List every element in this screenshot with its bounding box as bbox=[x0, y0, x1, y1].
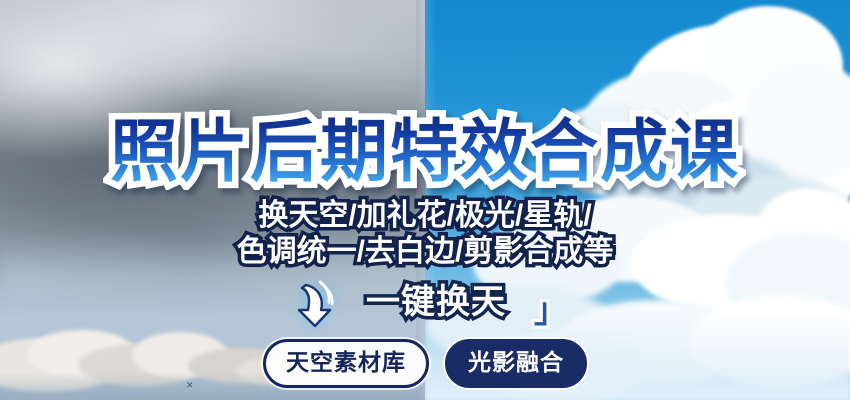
subtitle-line-1: 换天空/加礼花/极光/星轨/ 换天空/加礼花/极光/星轨/ bbox=[0, 198, 850, 234]
one-key-label-text: 一键换天 bbox=[344, 280, 528, 324]
subtitle-line-2: 色调统一/去白边/剪影合成等 色调统一/去白边/剪影合成等 bbox=[0, 234, 850, 270]
subtitle-line-2-text: 色调统一/去白边/剪影合成等 bbox=[0, 234, 850, 270]
badge-sky-asset-library[interactable]: 天空素材库 bbox=[263, 339, 429, 388]
curved-down-arrow-icon bbox=[290, 279, 338, 329]
corner-bracket-mark: 」 」 bbox=[534, 292, 560, 336]
course-promo-banner: ✕ 照片后期特效合成课 照片后期特效合成课 换天空/加礼花/极光/星轨/ bbox=[0, 0, 850, 400]
banner-title-text: 照片后期特效合成课 bbox=[0, 112, 850, 192]
banner-subtitle: 换天空/加礼花/极光/星轨/ 换天空/加礼花/极光/星轨/ 色调统一/去白边/剪… bbox=[0, 198, 850, 270]
banner-content: 照片后期特效合成课 照片后期特效合成课 换天空/加礼花/极光/星轨/ 换天空/加… bbox=[0, 0, 850, 400]
badge-light-shadow-blend[interactable]: 光影融合 bbox=[445, 339, 587, 388]
one-key-label: 一键换天 一键换天 bbox=[344, 280, 528, 324]
banner-title: 照片后期特效合成课 照片后期特效合成课 bbox=[0, 112, 850, 196]
one-key-sky-swap-highlight: 一键换天 一键换天 」 」 bbox=[0, 276, 850, 328]
corner-bracket-text: 」 bbox=[534, 292, 560, 330]
subtitle-line-1-text: 换天空/加礼花/极光/星轨/ bbox=[0, 198, 850, 234]
feature-badges: 天空素材库 光影融合 bbox=[0, 339, 850, 388]
